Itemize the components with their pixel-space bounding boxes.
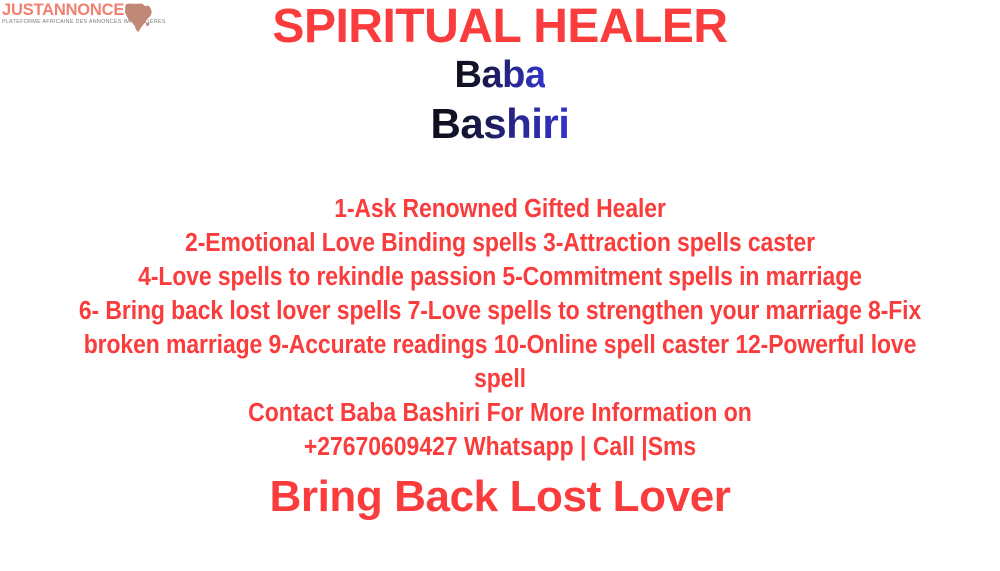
healer-first-name-text: Baba bbox=[455, 54, 546, 96]
contact-block: Contact Baba Bashiri For More Informatio… bbox=[68, 396, 932, 464]
healer-first-name: Baba bbox=[0, 50, 1000, 98]
closing-tagline: Bring Back Lost Lover bbox=[0, 464, 1000, 524]
healer-last-name: Bashiri bbox=[0, 98, 1000, 150]
contact-phone[interactable]: +27670609427 Whatsapp | Call |Sms bbox=[68, 430, 932, 464]
contact-heading: Contact Baba Bashiri For More Informatio… bbox=[68, 396, 932, 430]
service-line: 1-Ask Renowned Gifted Healer bbox=[68, 192, 932, 226]
service-line: 4-Love spells to rekindle passion 5-Comm… bbox=[68, 260, 932, 294]
poster-content: SPIRITUAL HEALER Baba Bashiri 1-Ask Reno… bbox=[0, 0, 1000, 524]
service-line-wrapped: 6- Bring back lost lover spells 7-Love s… bbox=[68, 294, 932, 396]
service-line: 2-Emotional Love Binding spells 3-Attrac… bbox=[68, 226, 932, 260]
healer-last-name-text: Bashiri bbox=[431, 100, 570, 147]
services-list: 1-Ask Renowned Gifted Healer 2-Emotional… bbox=[68, 192, 932, 396]
title-body-spacer bbox=[0, 150, 1000, 192]
page-title: SPIRITUAL HEALER bbox=[0, 0, 1000, 50]
